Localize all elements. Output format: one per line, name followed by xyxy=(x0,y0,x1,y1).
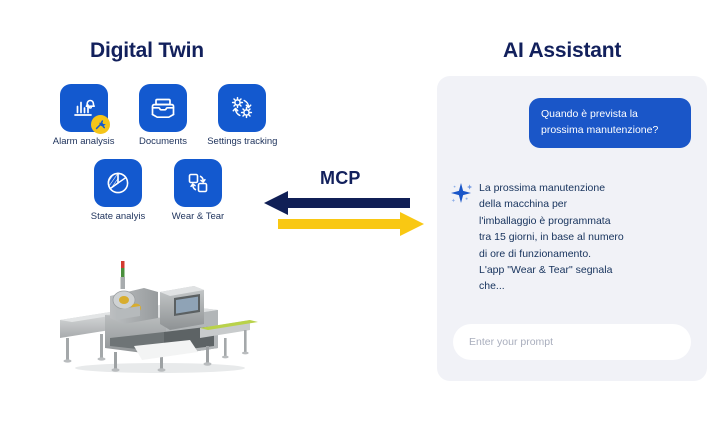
app-grid-row-1: Alarm analysis xyxy=(46,84,284,147)
packaging-machine-photo xyxy=(48,252,263,377)
mcp-connector: MCP xyxy=(262,168,426,238)
ai-assistant-panel: Quando è prevista la prossima manutenzio… xyxy=(437,76,707,381)
app-tile-wear-and-tear[interactable]: Wear & Tear xyxy=(160,159,236,222)
prompt-input[interactable] xyxy=(453,324,691,360)
mcp-bidirectional-arrows xyxy=(262,190,426,238)
alarm-analysis-tile-square[interactable] xyxy=(60,84,108,132)
wear-and-tear-tile-square[interactable] xyxy=(174,159,222,207)
sparkle-icon xyxy=(449,181,475,212)
ai-assistant-title: AI Assistant xyxy=(503,39,621,63)
state-analysis-tile-square[interactable] xyxy=(94,159,142,207)
app-label-documents: Documents xyxy=(139,137,187,147)
settings-tracking-tile-square[interactable] xyxy=(218,84,266,132)
chat-bubble-user: Quando è prevista la prossima manutenzio… xyxy=(529,98,691,148)
digital-twin-app-grid: Alarm analysis xyxy=(44,84,284,223)
app-label-alarm-analysis: Alarm analysis xyxy=(53,137,115,147)
mcp-label: MCP xyxy=(320,168,361,189)
app-tile-alarm-analysis[interactable]: Alarm analysis xyxy=(46,84,121,147)
documents-tile-square[interactable] xyxy=(139,84,187,132)
app-tile-settings-tracking[interactable]: Settings tracking xyxy=(205,84,280,147)
digital-twin-title: Digital Twin xyxy=(90,39,204,63)
pie-chart-icon xyxy=(103,168,133,198)
gears-sync-icon xyxy=(227,93,257,123)
squares-sync-icon xyxy=(183,168,213,198)
infographic-canvas: Digital Twin xyxy=(0,0,724,422)
chat-message-assistant: La prossima manutenzione della macchina … xyxy=(449,180,693,295)
app-label-wear-and-tear: Wear & Tear xyxy=(172,212,224,222)
app-label-settings-tracking: Settings tracking xyxy=(207,137,277,147)
wrench-badge-icon xyxy=(91,115,110,134)
arrow-right-yellow xyxy=(278,212,424,236)
app-label-state-analysis: State analyis xyxy=(91,212,145,222)
app-tile-state-analysis[interactable]: State analyis xyxy=(80,159,156,222)
document-tray-icon xyxy=(148,93,178,123)
app-grid-row-2: State analyis xyxy=(80,159,284,222)
assistant-message-text: La prossima manutenzione della macchina … xyxy=(479,180,624,295)
app-tile-documents[interactable]: Documents xyxy=(125,84,200,147)
arrow-left-navy xyxy=(264,191,410,215)
